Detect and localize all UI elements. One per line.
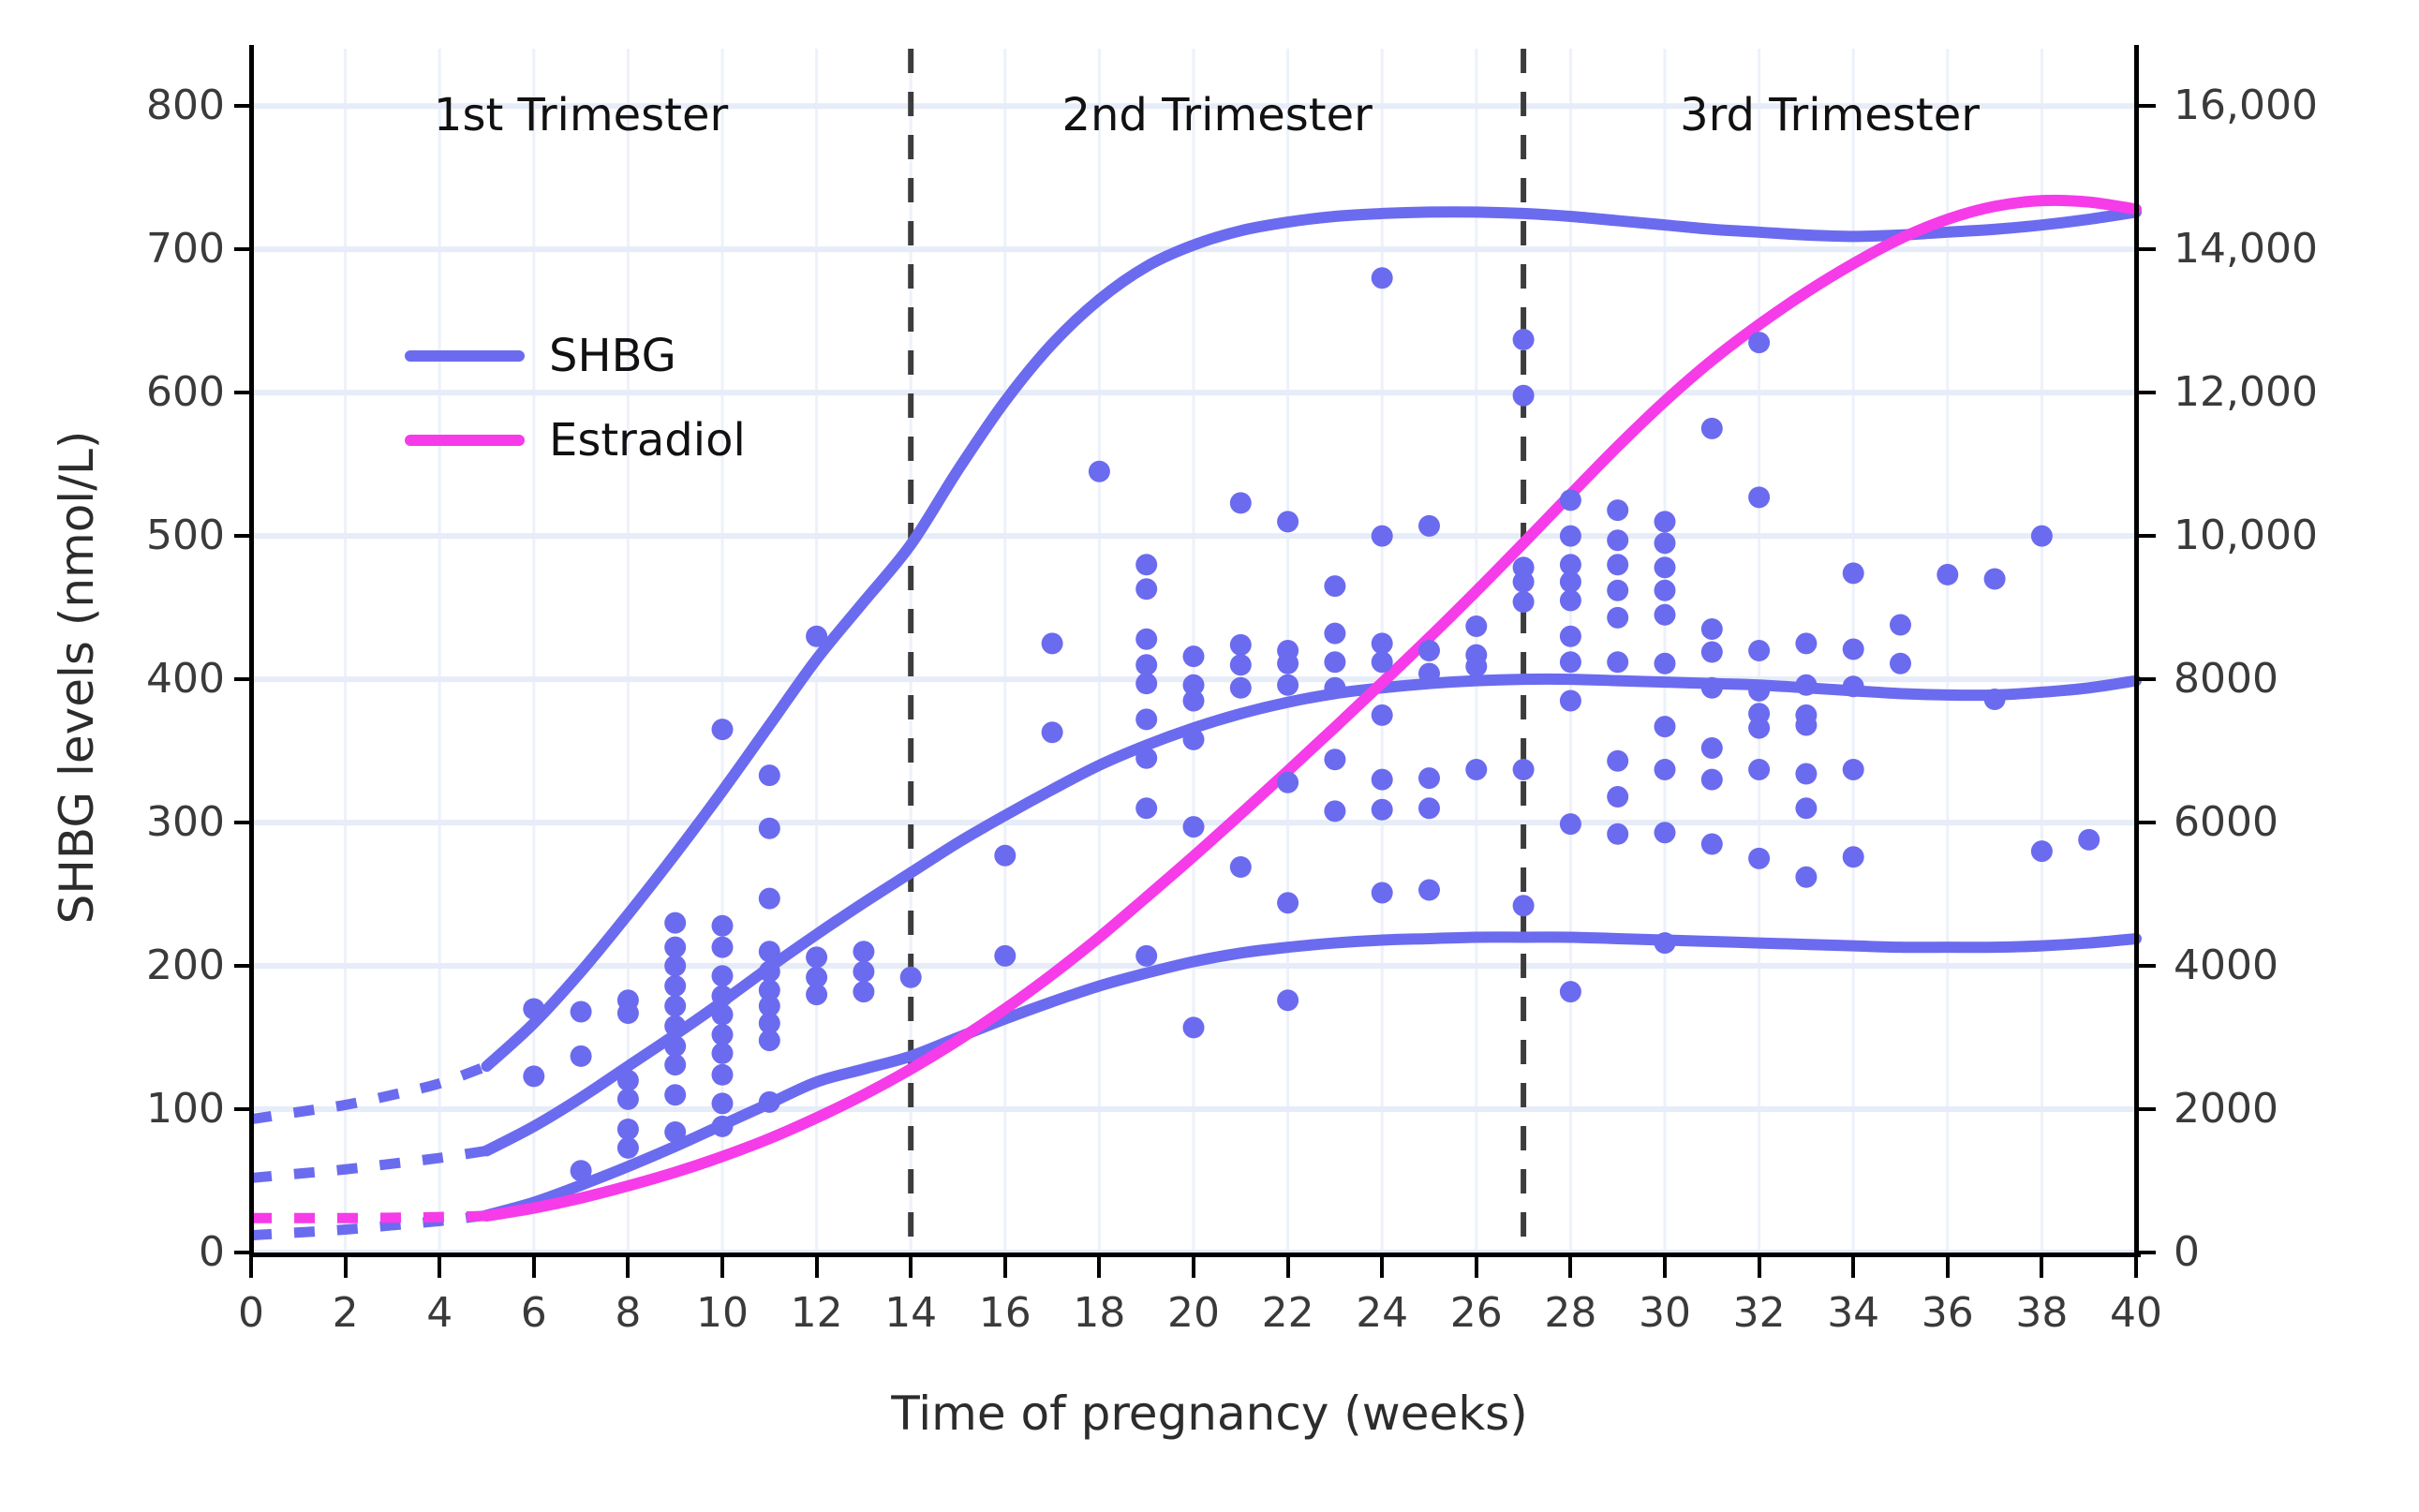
scatter-point bbox=[1418, 879, 1440, 900]
scatter-point bbox=[1560, 526, 1581, 547]
scatter-point bbox=[853, 961, 874, 983]
scatter-point bbox=[1277, 674, 1299, 696]
x-tick-label: 38 bbox=[2015, 1293, 2068, 1334]
scatter-point bbox=[1655, 932, 1676, 954]
scatter-point bbox=[1655, 716, 1676, 737]
scatter-point bbox=[900, 967, 922, 988]
y-tick-label-right: 10,000 bbox=[2174, 515, 2318, 556]
scatter-point bbox=[664, 956, 686, 977]
scatter-point bbox=[1372, 882, 1393, 904]
scatter-point bbox=[806, 626, 827, 647]
scatter-point bbox=[1277, 989, 1299, 1011]
trimester-label-2: 2nd Trimester bbox=[1061, 89, 1372, 141]
scatter-point bbox=[617, 1089, 639, 1110]
scatter-point bbox=[759, 941, 780, 962]
scatter-point bbox=[523, 1065, 544, 1087]
scatter-point bbox=[1560, 690, 1581, 712]
scatter-point bbox=[1372, 769, 1393, 791]
scatter-point bbox=[712, 937, 734, 958]
scatter-point bbox=[1277, 653, 1299, 674]
scatter-point bbox=[1655, 556, 1676, 578]
scatter-point bbox=[617, 1002, 639, 1024]
x-tick-label: 24 bbox=[1356, 1293, 1408, 1334]
scatter-point bbox=[1513, 329, 1535, 350]
scatter-point bbox=[1277, 892, 1299, 913]
scatter-point bbox=[1465, 656, 1487, 677]
y-tick-label-right: 14,000 bbox=[2174, 229, 2318, 270]
x-tick-label: 34 bbox=[1827, 1293, 1879, 1334]
scatter-point bbox=[1418, 640, 1440, 661]
scatter-point bbox=[1230, 654, 1252, 675]
y-axis-title-left: SHBG levels (nmol/L) bbox=[50, 349, 104, 1005]
scatter-point bbox=[1655, 653, 1676, 674]
scatter-point bbox=[759, 1030, 780, 1051]
scatter-point bbox=[1607, 529, 1628, 551]
y-tick-label-right: 16,000 bbox=[2174, 85, 2318, 126]
scatter-point bbox=[1277, 772, 1299, 793]
y-tick-mark-right bbox=[2139, 104, 2156, 108]
scatter-point bbox=[1655, 604, 1676, 626]
scatter-point bbox=[571, 1001, 592, 1023]
x-tick-mark bbox=[1192, 1257, 1195, 1278]
y-tick-label-left: 200 bbox=[0, 945, 225, 986]
y-tick-mark-left bbox=[234, 1251, 251, 1254]
scatter-point bbox=[712, 1004, 734, 1026]
scatter-point bbox=[1843, 846, 1864, 867]
x-tick-mark bbox=[438, 1257, 441, 1278]
x-tick-mark bbox=[1003, 1257, 1007, 1278]
axis-spine-left bbox=[249, 45, 254, 1256]
x-tick-mark bbox=[249, 1257, 253, 1278]
scatter-point bbox=[617, 1137, 639, 1159]
scatter-point bbox=[1890, 653, 1911, 674]
scatter-point bbox=[1607, 651, 1628, 673]
scatter-point bbox=[1513, 895, 1535, 916]
x-tick-label: 10 bbox=[696, 1293, 749, 1334]
x-tick-label: 40 bbox=[2110, 1293, 2162, 1334]
scatter-point bbox=[1183, 690, 1205, 712]
x-tick-mark bbox=[815, 1257, 819, 1278]
scatter-point bbox=[617, 1070, 639, 1091]
y-tick-mark-left bbox=[234, 534, 251, 538]
scatter-point bbox=[1465, 615, 1487, 637]
y-tick-label-right: 6000 bbox=[2174, 802, 2278, 843]
scatter-point bbox=[1795, 797, 1817, 819]
scatter-point bbox=[1418, 767, 1440, 789]
x-tick-mark bbox=[2040, 1257, 2043, 1278]
scatter-point bbox=[1655, 580, 1676, 601]
scatter-point bbox=[1560, 589, 1581, 611]
x-tick-label: 2 bbox=[333, 1293, 359, 1334]
x-tick-label: 0 bbox=[238, 1293, 264, 1334]
y-tick-label-left: 500 bbox=[0, 515, 225, 556]
scatter-point bbox=[1655, 532, 1676, 554]
scatter-point bbox=[1135, 673, 1157, 694]
scatter-point bbox=[664, 995, 686, 1016]
trimester-label-3: 3rd Trimester bbox=[1680, 89, 1980, 141]
scatter-point bbox=[1843, 675, 1864, 697]
legend-item-shbg: SHBG bbox=[405, 330, 746, 382]
scatter-point bbox=[1372, 526, 1393, 547]
scatter-point bbox=[1372, 651, 1393, 673]
y-tick-label-right: 0 bbox=[2174, 1232, 2200, 1273]
legend-label-estradiol: Estradiol bbox=[549, 414, 746, 467]
scatter-point bbox=[1984, 689, 2006, 710]
x-tick-mark bbox=[1286, 1257, 1290, 1278]
y-tick-mark-left bbox=[234, 964, 251, 968]
scatter-point bbox=[1135, 629, 1157, 650]
series-dashed-3 bbox=[251, 1216, 487, 1218]
scatter-point bbox=[1513, 591, 1535, 613]
scatter-point bbox=[1135, 554, 1157, 575]
scatter-point bbox=[1324, 575, 1345, 597]
scatter-point bbox=[1607, 786, 1628, 808]
scatter-point bbox=[1372, 632, 1393, 654]
scatter-point bbox=[1135, 748, 1157, 769]
y-tick-mark-right bbox=[2139, 964, 2156, 968]
scatter-point bbox=[712, 986, 734, 1007]
x-axis-title: Time of pregnancy (weeks) bbox=[0, 1386, 2419, 1441]
scatter-point bbox=[1701, 642, 1723, 663]
legend-swatch-estradiol bbox=[405, 435, 525, 446]
scatter-point bbox=[1324, 677, 1345, 699]
x-tick-mark bbox=[1663, 1257, 1667, 1278]
scatter-point bbox=[1607, 580, 1628, 601]
y-tick-label-left: 100 bbox=[0, 1089, 225, 1130]
y-tick-label-right: 8000 bbox=[2174, 659, 2278, 700]
series-dashed-0 bbox=[251, 1066, 487, 1119]
scatter-point bbox=[759, 764, 780, 786]
y-tick-mark-right bbox=[2139, 1251, 2156, 1254]
scatter-point bbox=[1135, 578, 1157, 600]
legend-label-shbg: SHBG bbox=[549, 330, 676, 382]
scatter-point bbox=[1042, 632, 1063, 654]
scatter-point bbox=[617, 1119, 639, 1140]
y-tick-mark-right bbox=[2139, 391, 2156, 394]
scatter-point bbox=[712, 1092, 734, 1114]
x-tick-label: 26 bbox=[1450, 1293, 1503, 1334]
scatter-point bbox=[571, 1160, 592, 1181]
x-tick-label: 22 bbox=[1262, 1293, 1314, 1334]
y-tick-mark-left bbox=[234, 1107, 251, 1111]
scatter-point bbox=[1277, 511, 1299, 532]
scatter-point bbox=[1183, 729, 1205, 750]
series-dashed-1 bbox=[251, 1150, 487, 1178]
scatter-point bbox=[1513, 385, 1535, 407]
scatter-point bbox=[1890, 614, 1911, 635]
scatter-point bbox=[1843, 562, 1864, 584]
x-tick-label: 4 bbox=[426, 1293, 453, 1334]
scatter-point bbox=[1607, 607, 1628, 629]
x-tick-mark bbox=[1568, 1257, 1572, 1278]
scatter-point bbox=[2031, 526, 2053, 547]
scatter-point bbox=[1607, 554, 1628, 575]
y-tick-mark-right bbox=[2139, 677, 2156, 681]
scatter-point bbox=[1795, 632, 1817, 654]
scatter-point bbox=[1748, 718, 1770, 739]
chart-legend: SHBG Estradiol bbox=[405, 330, 746, 467]
x-tick-label: 12 bbox=[791, 1293, 843, 1334]
x-tick-label: 20 bbox=[1167, 1293, 1220, 1334]
scatter-point bbox=[806, 946, 827, 968]
scatter-point bbox=[1701, 769, 1723, 791]
scatter-points bbox=[523, 267, 2100, 1181]
scatter-point bbox=[1701, 677, 1723, 699]
scatter-point bbox=[1418, 797, 1440, 819]
scatter-point bbox=[712, 719, 734, 740]
scatter-point bbox=[759, 818, 780, 839]
scatter-point bbox=[1560, 651, 1581, 673]
x-tick-mark bbox=[626, 1257, 630, 1278]
x-tick-label: 6 bbox=[521, 1293, 547, 1334]
y-tick-mark-left bbox=[234, 821, 251, 824]
scatter-point bbox=[664, 1084, 686, 1105]
axis-spine-right bbox=[2134, 45, 2139, 1256]
scatter-point bbox=[1843, 638, 1864, 660]
scatter-point bbox=[712, 1024, 734, 1045]
data-layer bbox=[251, 49, 2136, 1253]
x-tick-mark bbox=[909, 1257, 913, 1278]
scatter-point bbox=[1089, 461, 1110, 482]
y-tick-mark-left bbox=[234, 391, 251, 394]
x-tick-label: 30 bbox=[1639, 1293, 1691, 1334]
scatter-point bbox=[2031, 840, 2053, 862]
scatter-point bbox=[664, 1015, 686, 1037]
scatter-point bbox=[664, 937, 686, 958]
scatter-point bbox=[1372, 704, 1393, 726]
scatter-point bbox=[853, 941, 874, 962]
scatter-point bbox=[759, 1091, 780, 1113]
x-tick-label: 18 bbox=[1073, 1293, 1125, 1334]
scatter-point bbox=[1183, 1016, 1205, 1038]
scatter-point bbox=[1135, 945, 1157, 967]
scatter-point bbox=[1701, 834, 1723, 855]
x-tick-label: 14 bbox=[884, 1293, 937, 1334]
scatter-point bbox=[1418, 515, 1440, 537]
scatter-point bbox=[759, 961, 780, 983]
scatter-point bbox=[1560, 813, 1581, 835]
scatter-point bbox=[1701, 618, 1723, 640]
y-tick-label-left: 800 bbox=[0, 85, 225, 126]
scatter-point bbox=[1418, 662, 1440, 684]
scatter-point bbox=[664, 1121, 686, 1143]
scatter-point bbox=[712, 1116, 734, 1137]
scatter-point bbox=[1513, 759, 1535, 780]
y-tick-mark-right bbox=[2139, 821, 2156, 824]
scatter-point bbox=[1701, 737, 1723, 759]
scatter-point bbox=[1230, 634, 1252, 656]
y-tick-label-left: 700 bbox=[0, 229, 225, 270]
scatter-point bbox=[1748, 486, 1770, 508]
scatter-point bbox=[1701, 418, 1723, 439]
y-tick-mark-left bbox=[234, 104, 251, 108]
scatter-point bbox=[1135, 654, 1157, 675]
scatter-point bbox=[1748, 759, 1770, 780]
y-tick-mark-left bbox=[234, 247, 251, 251]
scatter-point bbox=[1135, 708, 1157, 730]
scatter-point bbox=[1607, 750, 1628, 772]
y-tick-mark-right bbox=[2139, 1107, 2156, 1111]
scatter-point bbox=[1230, 856, 1252, 878]
scatter-point bbox=[571, 1045, 592, 1067]
scatter-point bbox=[1560, 489, 1581, 511]
legend-swatch-shbg bbox=[405, 350, 525, 362]
scatter-point bbox=[664, 912, 686, 934]
scatter-point bbox=[1984, 569, 2006, 590]
scatter-point bbox=[664, 975, 686, 997]
scatter-point bbox=[1748, 848, 1770, 869]
scatter-point bbox=[1513, 571, 1535, 593]
scatter-point bbox=[664, 1035, 686, 1057]
x-tick-mark bbox=[2134, 1257, 2138, 1278]
scatter-point bbox=[712, 965, 734, 986]
x-tick-mark bbox=[344, 1257, 348, 1278]
scatter-point bbox=[712, 1064, 734, 1086]
x-tick-label: 8 bbox=[615, 1293, 641, 1334]
scatter-point bbox=[1655, 822, 1676, 843]
scatter-point bbox=[1795, 763, 1817, 785]
scatter-point bbox=[1748, 680, 1770, 702]
scatter-point bbox=[1324, 651, 1345, 673]
series-dashed-2 bbox=[251, 1215, 487, 1235]
scatter-point bbox=[1324, 623, 1345, 645]
scatter-point bbox=[1324, 749, 1345, 770]
x-tick-label: 32 bbox=[1733, 1293, 1786, 1334]
scatter-point bbox=[853, 981, 874, 1002]
scatter-point bbox=[1560, 981, 1581, 1002]
y-tick-label-right: 4000 bbox=[2174, 945, 2278, 986]
scatter-point bbox=[1748, 640, 1770, 661]
scatter-point bbox=[1560, 571, 1581, 593]
x-tick-mark bbox=[1097, 1257, 1101, 1278]
x-tick-label: 28 bbox=[1544, 1293, 1596, 1334]
scatter-point bbox=[2078, 829, 2100, 851]
scatter-point bbox=[1607, 823, 1628, 845]
scatter-point bbox=[1607, 499, 1628, 521]
scatter-point bbox=[1372, 267, 1393, 289]
scatter-point bbox=[1795, 715, 1817, 736]
trimester-label-1: 1st Trimester bbox=[434, 89, 728, 141]
scatter-point bbox=[1230, 492, 1252, 513]
scatter-point bbox=[1795, 674, 1817, 696]
series-line-2 bbox=[487, 937, 2137, 1215]
scatter-point bbox=[664, 1054, 686, 1075]
scatter-point bbox=[994, 845, 1016, 867]
scatter-point bbox=[1135, 797, 1157, 819]
scatter-point bbox=[1843, 759, 1864, 780]
scatter-point bbox=[1655, 511, 1676, 532]
scatter-point bbox=[1795, 867, 1817, 888]
y-tick-mark-left bbox=[234, 677, 251, 681]
x-tick-mark bbox=[1475, 1257, 1478, 1278]
scatter-point bbox=[1324, 800, 1345, 822]
x-tick-mark bbox=[1851, 1257, 1855, 1278]
chart-root: 0100200300400500600700800020004000600080… bbox=[0, 0, 2419, 1512]
scatter-point bbox=[523, 998, 544, 1019]
x-tick-mark bbox=[720, 1257, 724, 1278]
y-tick-label-left: 400 bbox=[0, 659, 225, 700]
scatter-point bbox=[1655, 759, 1676, 780]
scatter-point bbox=[712, 1043, 734, 1064]
scatter-point bbox=[1748, 332, 1770, 353]
y-tick-label-left: 300 bbox=[0, 802, 225, 843]
scatter-point bbox=[759, 888, 780, 910]
scatter-point bbox=[1937, 564, 1958, 586]
scatter-point bbox=[1560, 626, 1581, 647]
scatter-point bbox=[1042, 721, 1063, 743]
y-tick-label-right: 2000 bbox=[2174, 1089, 2278, 1130]
x-tick-mark bbox=[1758, 1257, 1761, 1278]
y-tick-label-left: 0 bbox=[0, 1232, 225, 1273]
y-tick-mark-right bbox=[2139, 247, 2156, 251]
scatter-point bbox=[712, 915, 734, 937]
scatter-point bbox=[806, 984, 827, 1005]
scatter-point bbox=[1230, 677, 1252, 699]
legend-item-estradiol: Estradiol bbox=[405, 414, 746, 467]
scatter-point bbox=[1183, 816, 1205, 838]
scatter-point bbox=[1465, 759, 1487, 780]
y-tick-label-right: 12,000 bbox=[2174, 372, 2318, 413]
y-tick-label-left: 600 bbox=[0, 372, 225, 413]
scatter-point bbox=[1372, 799, 1393, 821]
x-tick-mark bbox=[532, 1257, 536, 1278]
plot-area bbox=[251, 49, 2136, 1253]
x-tick-label: 16 bbox=[979, 1293, 1031, 1334]
y-tick-mark-right bbox=[2139, 534, 2156, 538]
x-tick-mark bbox=[1946, 1257, 1950, 1278]
x-tick-label: 36 bbox=[1922, 1293, 1974, 1334]
x-tick-mark bbox=[1380, 1257, 1384, 1278]
scatter-point bbox=[1183, 645, 1205, 667]
scatter-point bbox=[994, 945, 1016, 967]
